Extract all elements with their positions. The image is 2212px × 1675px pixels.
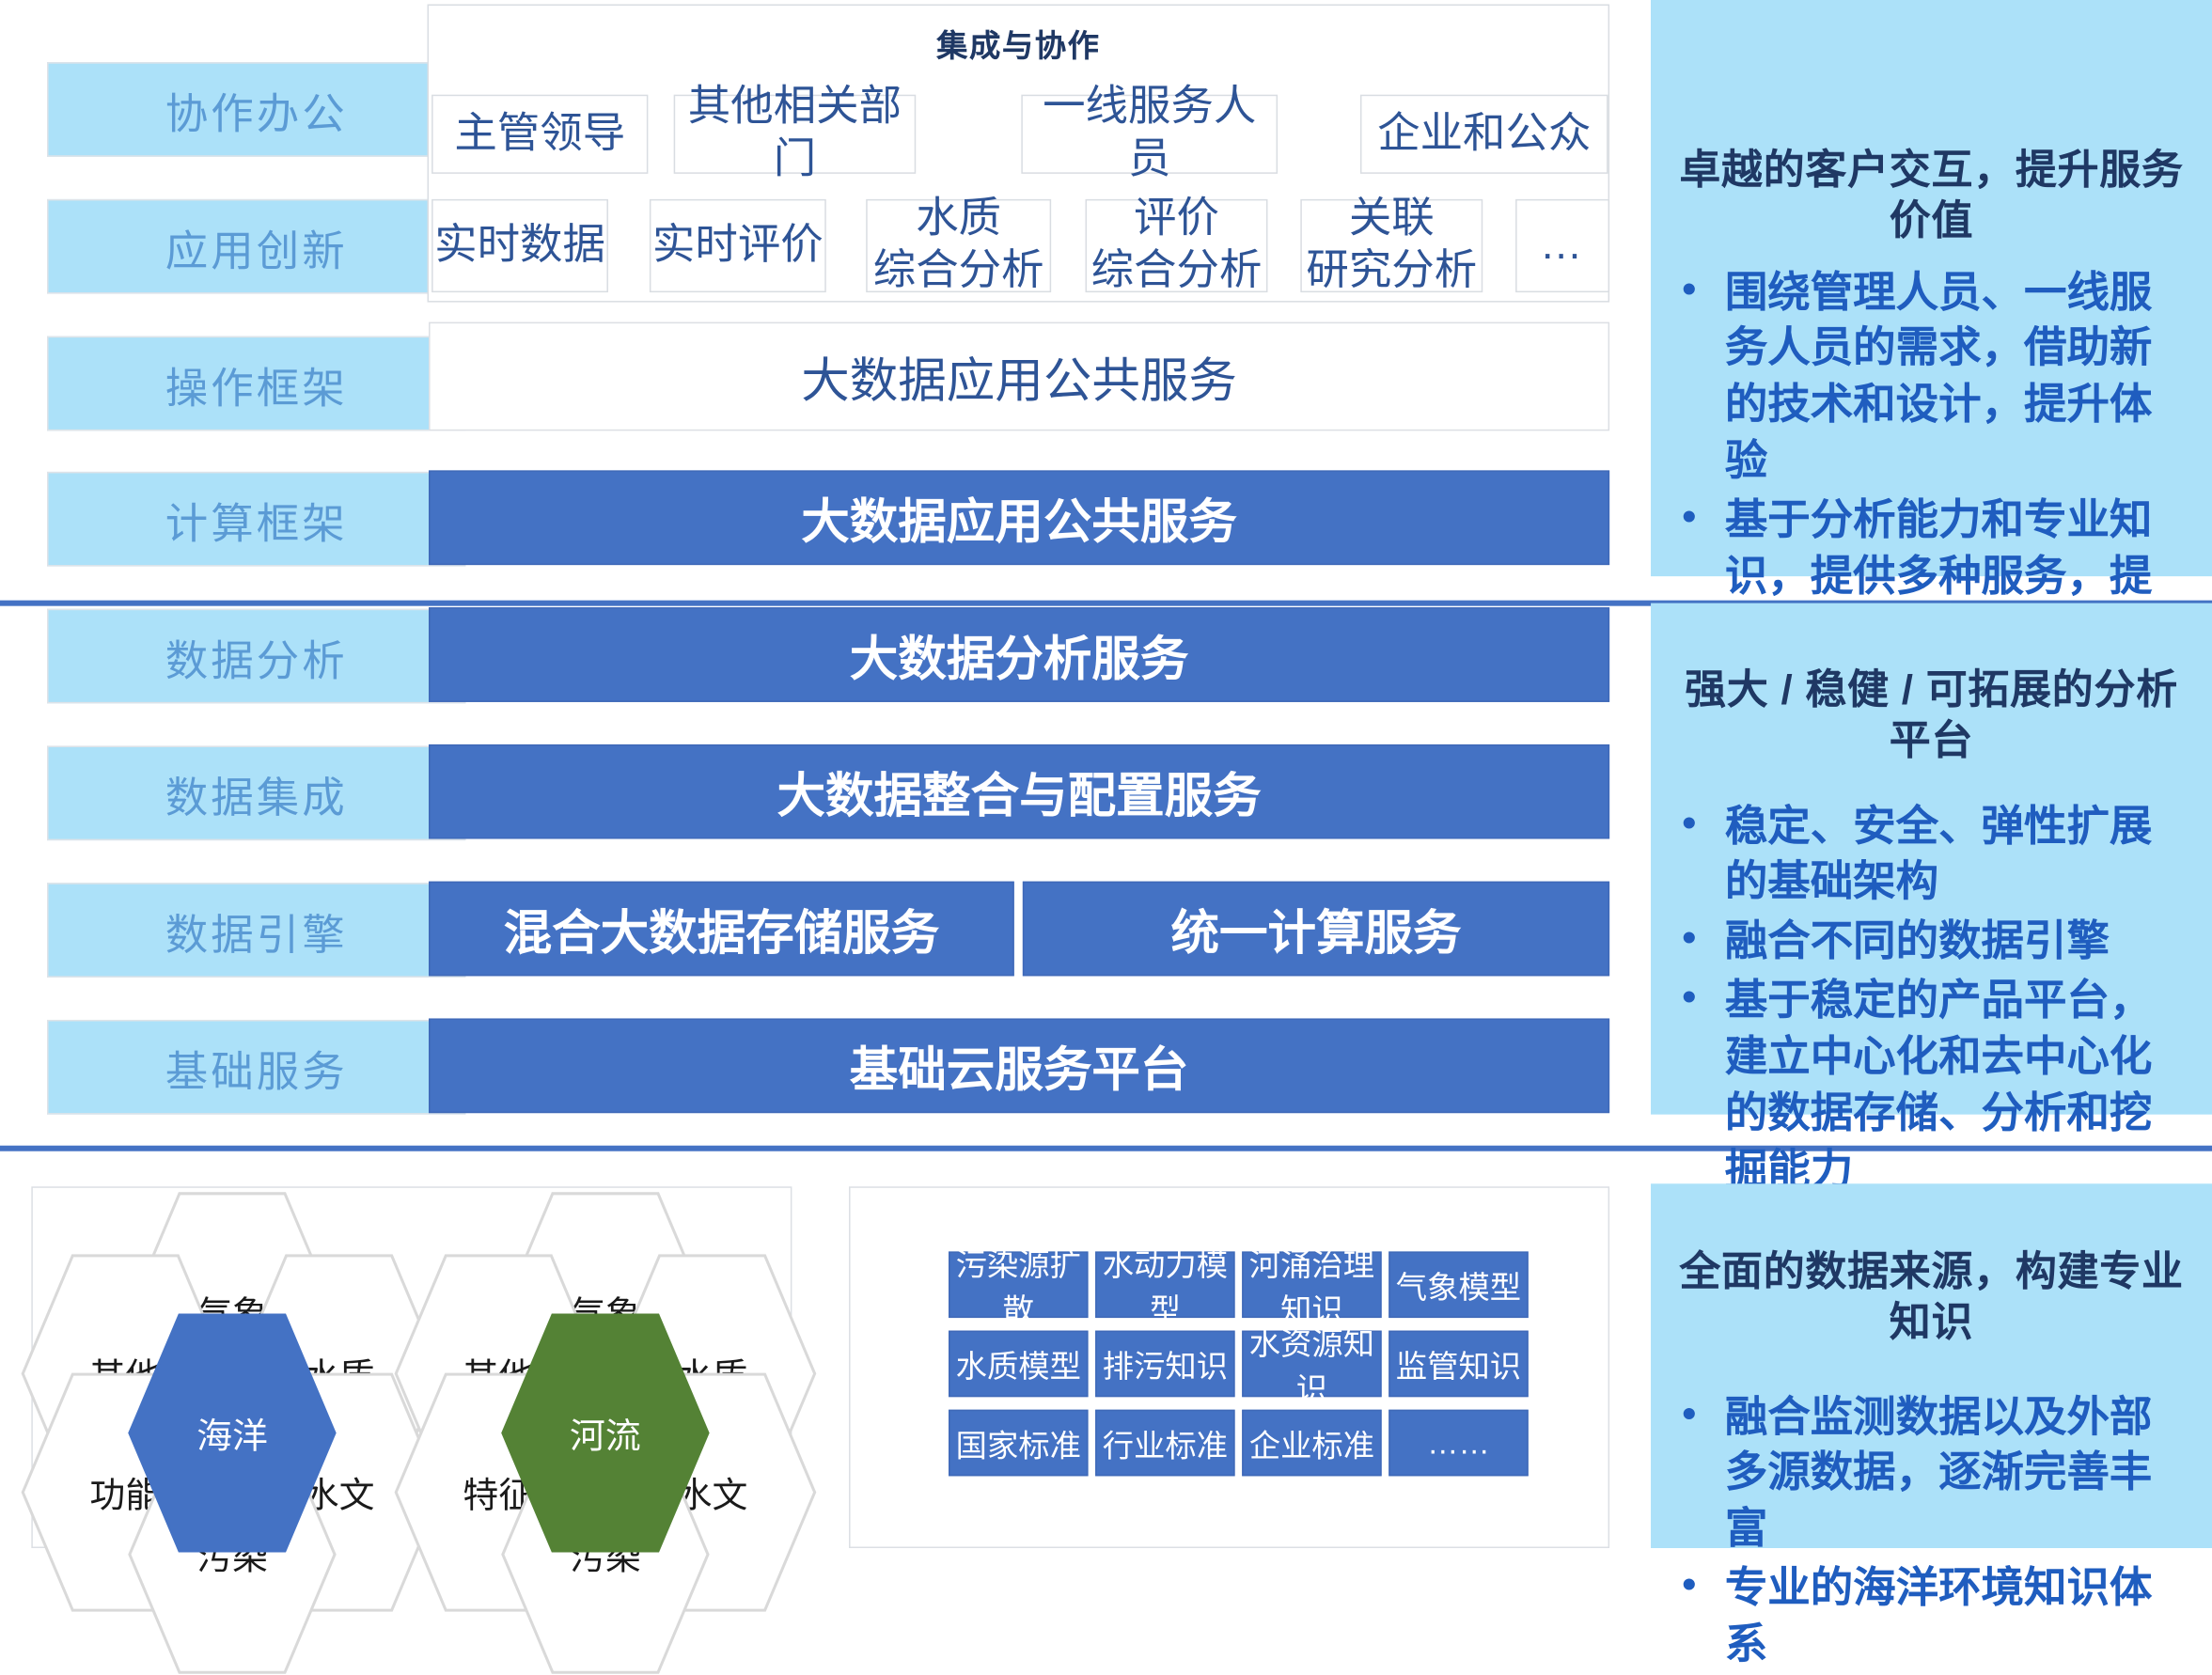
band-hybrid-storage-service[interactable]: 混合大数据存储服务 xyxy=(429,882,1014,977)
layer-label-text: 计算框架 xyxy=(165,488,348,550)
callout-bullet: 融合监测数据以及外部多源数据，逐渐完善丰富 xyxy=(1725,1389,2192,1558)
layer-label-text: 应用创新 xyxy=(165,215,348,277)
layer-label-data-engine[interactable]: 数据引擎 xyxy=(47,883,465,978)
role-chip-other-departments[interactable]: 其他相关部门 xyxy=(674,95,917,174)
layer-label-collaboration[interactable]: 协作办公 xyxy=(47,62,465,157)
hex-river-center[interactable]: 河流 xyxy=(500,1312,711,1554)
app-chip-line2: 综合分析 xyxy=(873,245,1044,297)
knowledge-tile[interactable]: 行业标准 xyxy=(1095,1410,1234,1477)
layer-label-data-integration[interactable]: 数据集成 xyxy=(47,745,465,840)
layer-label-text: 数据集成 xyxy=(165,762,348,824)
integration-panel-title: 集成与协作 xyxy=(428,17,1610,70)
callout-customer-interaction: 卓越的客户交互，提升服务价值 围绕管理人员、一线服务人员的需求，借助新的技术和设… xyxy=(1651,0,2212,576)
hex-clusters-card: 气象 其他 水质 功能 水文 污染 海洋 xyxy=(31,1186,792,1548)
hex-cluster-river: 气象 其他 水质 特征 水文 污染 河流 xyxy=(420,1197,774,1542)
app-chip-line2: 研究分析 xyxy=(1306,245,1477,297)
callout-bullet-list: 融合监测数据以及外部多源数据，逐渐完善丰富 专业的海洋环境知识体系 xyxy=(1651,1389,2212,1674)
band-unified-compute-service[interactable]: 统一计算服务 xyxy=(1023,882,1609,977)
callout-analytics-platform: 强大 / 稳健 / 可拓展的分析平台 稳定、安全、弹性扩展的基础架构 融合不同的… xyxy=(1651,603,2212,1115)
band-operation-framework[interactable]: 大数据应用公共服务 xyxy=(429,322,1609,431)
layer-label-text: 数据分析 xyxy=(165,625,348,687)
knowledge-tile[interactable]: 污染源扩散 xyxy=(949,1251,1088,1318)
band-data-analysis[interactable]: 大数据分析服务 xyxy=(429,607,1609,702)
knowledge-tile[interactable]: 水动力模型 xyxy=(1095,1251,1234,1318)
knowledge-tile[interactable]: 水资源知识 xyxy=(1242,1331,1381,1398)
band-data-integration[interactable]: 大数据整合与配置服务 xyxy=(429,744,1609,839)
knowledge-tile[interactable]: 排污知识 xyxy=(1095,1331,1234,1398)
role-chip-enterprise-public[interactable]: 企业和公众 xyxy=(1360,95,1608,174)
app-chip-line1: 水质 xyxy=(873,194,1044,245)
role-chip-supervisor[interactable]: 主管领导 xyxy=(431,95,648,174)
callout-title: 全面的数据来源，构建专业知识 xyxy=(1651,1183,2212,1389)
layer-label-base-service[interactable]: 基础服务 xyxy=(47,1020,465,1115)
app-chip-line1: 评价 xyxy=(1091,194,1263,245)
app-chip-more[interactable]: … xyxy=(1515,199,1609,292)
layer-label-data-analysis[interactable]: 数据分析 xyxy=(47,609,465,704)
layer-label-operation-framework[interactable]: 操作框架 xyxy=(47,337,465,431)
callout-title: 强大 / 稳健 / 可拓展的分析平台 xyxy=(1651,603,2212,799)
knowledge-tile[interactable]: 水质模型 xyxy=(949,1331,1088,1398)
callout-bullet: 基于稳定的产品平台，建立中心化和去中心化的数据存储、分析和挖掘能力 xyxy=(1725,974,2192,1199)
layer-label-text: 操作框架 xyxy=(165,352,348,415)
app-chip-evaluation-analysis[interactable]: 评价 综合分析 xyxy=(1086,199,1268,292)
knowledge-tiles-card: 污染源扩散 水动力模型 河涌治理知识 气象模型 水质模型 排污知识 水资源知识 … xyxy=(849,1186,1609,1548)
layer-label-application-innovation[interactable]: 应用创新 xyxy=(47,199,465,294)
knowledge-tile[interactable]: 企业标准 xyxy=(1242,1410,1381,1477)
hex-cluster-ocean: 气象 其他 水质 功能 水文 污染 海洋 xyxy=(47,1197,400,1542)
knowledge-tiles-grid: 污染源扩散 水动力模型 河涌治理知识 气象模型 水质模型 排污知识 水资源知识 … xyxy=(949,1251,1532,1487)
knowledge-tile[interactable]: 国家标准 xyxy=(949,1410,1088,1477)
callout-bullet: 专业的海洋环境知识体系 xyxy=(1725,1561,2192,1674)
layer-label-text: 协作办公 xyxy=(165,78,348,140)
knowledge-tile[interactable]: 气象模型 xyxy=(1388,1251,1528,1318)
app-chip-correlation-research[interactable]: 关联 研究分析 xyxy=(1300,199,1483,292)
app-chip-realtime-data[interactable]: 实时数据 xyxy=(431,199,608,292)
callout-bullet: 融合不同的数据引擎 xyxy=(1725,915,2192,971)
callout-bullet: 围绕管理人员、一线服务人员的需求，借助新的技术和设计，提升体验 xyxy=(1725,265,2192,491)
app-chip-realtime-evaluation[interactable]: 实时评价 xyxy=(650,199,826,292)
callout-bullet: 稳定、安全、弹性扩展的基础架构 xyxy=(1725,799,2192,912)
callout-data-sources: 全面的数据来源，构建专业知识 融合监测数据以及外部多源数据，逐渐完善丰富 专业的… xyxy=(1651,1183,2212,1548)
hex-ocean-center[interactable]: 海洋 xyxy=(127,1312,337,1554)
app-chip-water-quality-analysis[interactable]: 水质 综合分析 xyxy=(866,199,1051,292)
layer-label-text: 基础服务 xyxy=(165,1036,348,1098)
role-chip-frontline-staff[interactable]: 一线服务人员 xyxy=(1021,95,1278,174)
layer-label-text: 数据引擎 xyxy=(165,899,348,961)
knowledge-tile[interactable]: 监管知识 xyxy=(1388,1331,1528,1398)
callout-bullet-list: 稳定、安全、弹性扩展的基础架构 融合不同的数据引擎 基于稳定的产品平台，建立中心… xyxy=(1651,799,2212,1199)
knowledge-tile[interactable]: 河涌治理知识 xyxy=(1242,1251,1381,1318)
band-compute-framework[interactable]: 大数据应用公共服务 xyxy=(429,470,1609,565)
band-base-cloud-platform[interactable]: 基础云服务平台 xyxy=(429,1018,1609,1113)
callout-title: 卓越的客户交互，提升服务价值 xyxy=(1651,0,2212,265)
knowledge-tile[interactable]: …… xyxy=(1388,1410,1528,1477)
app-chip-line1: 关联 xyxy=(1306,194,1477,245)
layer-label-compute-framework[interactable]: 计算框架 xyxy=(47,472,465,567)
app-chip-line2: 综合分析 xyxy=(1091,245,1263,297)
